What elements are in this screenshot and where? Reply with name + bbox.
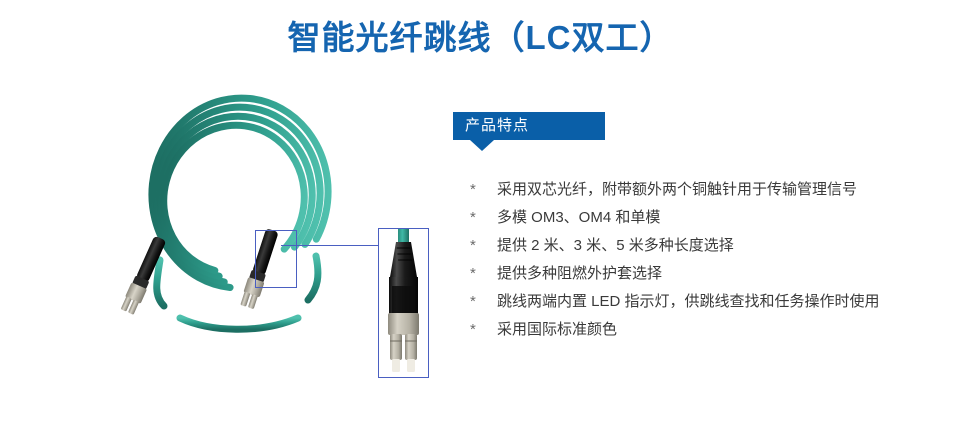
page-title: 智能光纤跳线（LC双工）	[0, 16, 961, 60]
list-item-text: 采用双芯光纤，附带额外两个铜触针用于传输管理信号	[497, 176, 882, 204]
product-features-panel: 产品特点 * 采用双芯光纤，附带额外两个铜触针用于传输管理信号 * 多模 OM3…	[453, 112, 883, 140]
list-item-text: 多模 OM3、OM4 和单模	[497, 204, 882, 232]
lc-duplex-connector-closeup	[379, 229, 428, 377]
connector-selection-box	[255, 230, 297, 288]
bullet-marker: *	[470, 232, 476, 260]
callout-leader-line	[281, 245, 379, 246]
list-item-text: 跳线两端内置 LED 指示灯，供跳线查找和任务操作时使用	[497, 288, 882, 316]
feature-list: * 采用双芯光纤，附带额外两个铜触针用于传输管理信号 * 多模 OM3、OM4 …	[462, 176, 882, 344]
list-item-text: 提供 2 米、3 米、5 米多种长度选择	[497, 232, 882, 260]
bullet-marker: *	[470, 204, 476, 232]
list-item: * 提供 2 米、3 米、5 米多种长度选择	[462, 232, 882, 260]
features-banner-label: 产品特点	[465, 117, 529, 134]
bullet-marker: *	[470, 316, 476, 344]
features-banner: 产品特点	[453, 112, 605, 140]
bullet-marker: *	[470, 288, 476, 316]
list-item: * 跳线两端内置 LED 指示灯，供跳线查找和任务操作时使用	[462, 288, 882, 316]
list-item-text: 提供多种阻燃外护套选择	[497, 260, 882, 288]
list-item: * 采用国际标准颜色	[462, 316, 882, 344]
list-item: * 提供多种阻燃外护套选择	[462, 260, 882, 288]
list-item-text: 采用国际标准颜色	[497, 316, 882, 344]
connector-callout-box	[378, 228, 429, 378]
banner-tail-icon	[470, 140, 494, 151]
list-item: * 采用双芯光纤，附带额外两个铜触针用于传输管理信号	[462, 176, 882, 204]
bullet-marker: *	[470, 176, 476, 204]
bullet-marker: *	[470, 260, 476, 288]
list-item: * 多模 OM3、OM4 和单模	[462, 204, 882, 232]
